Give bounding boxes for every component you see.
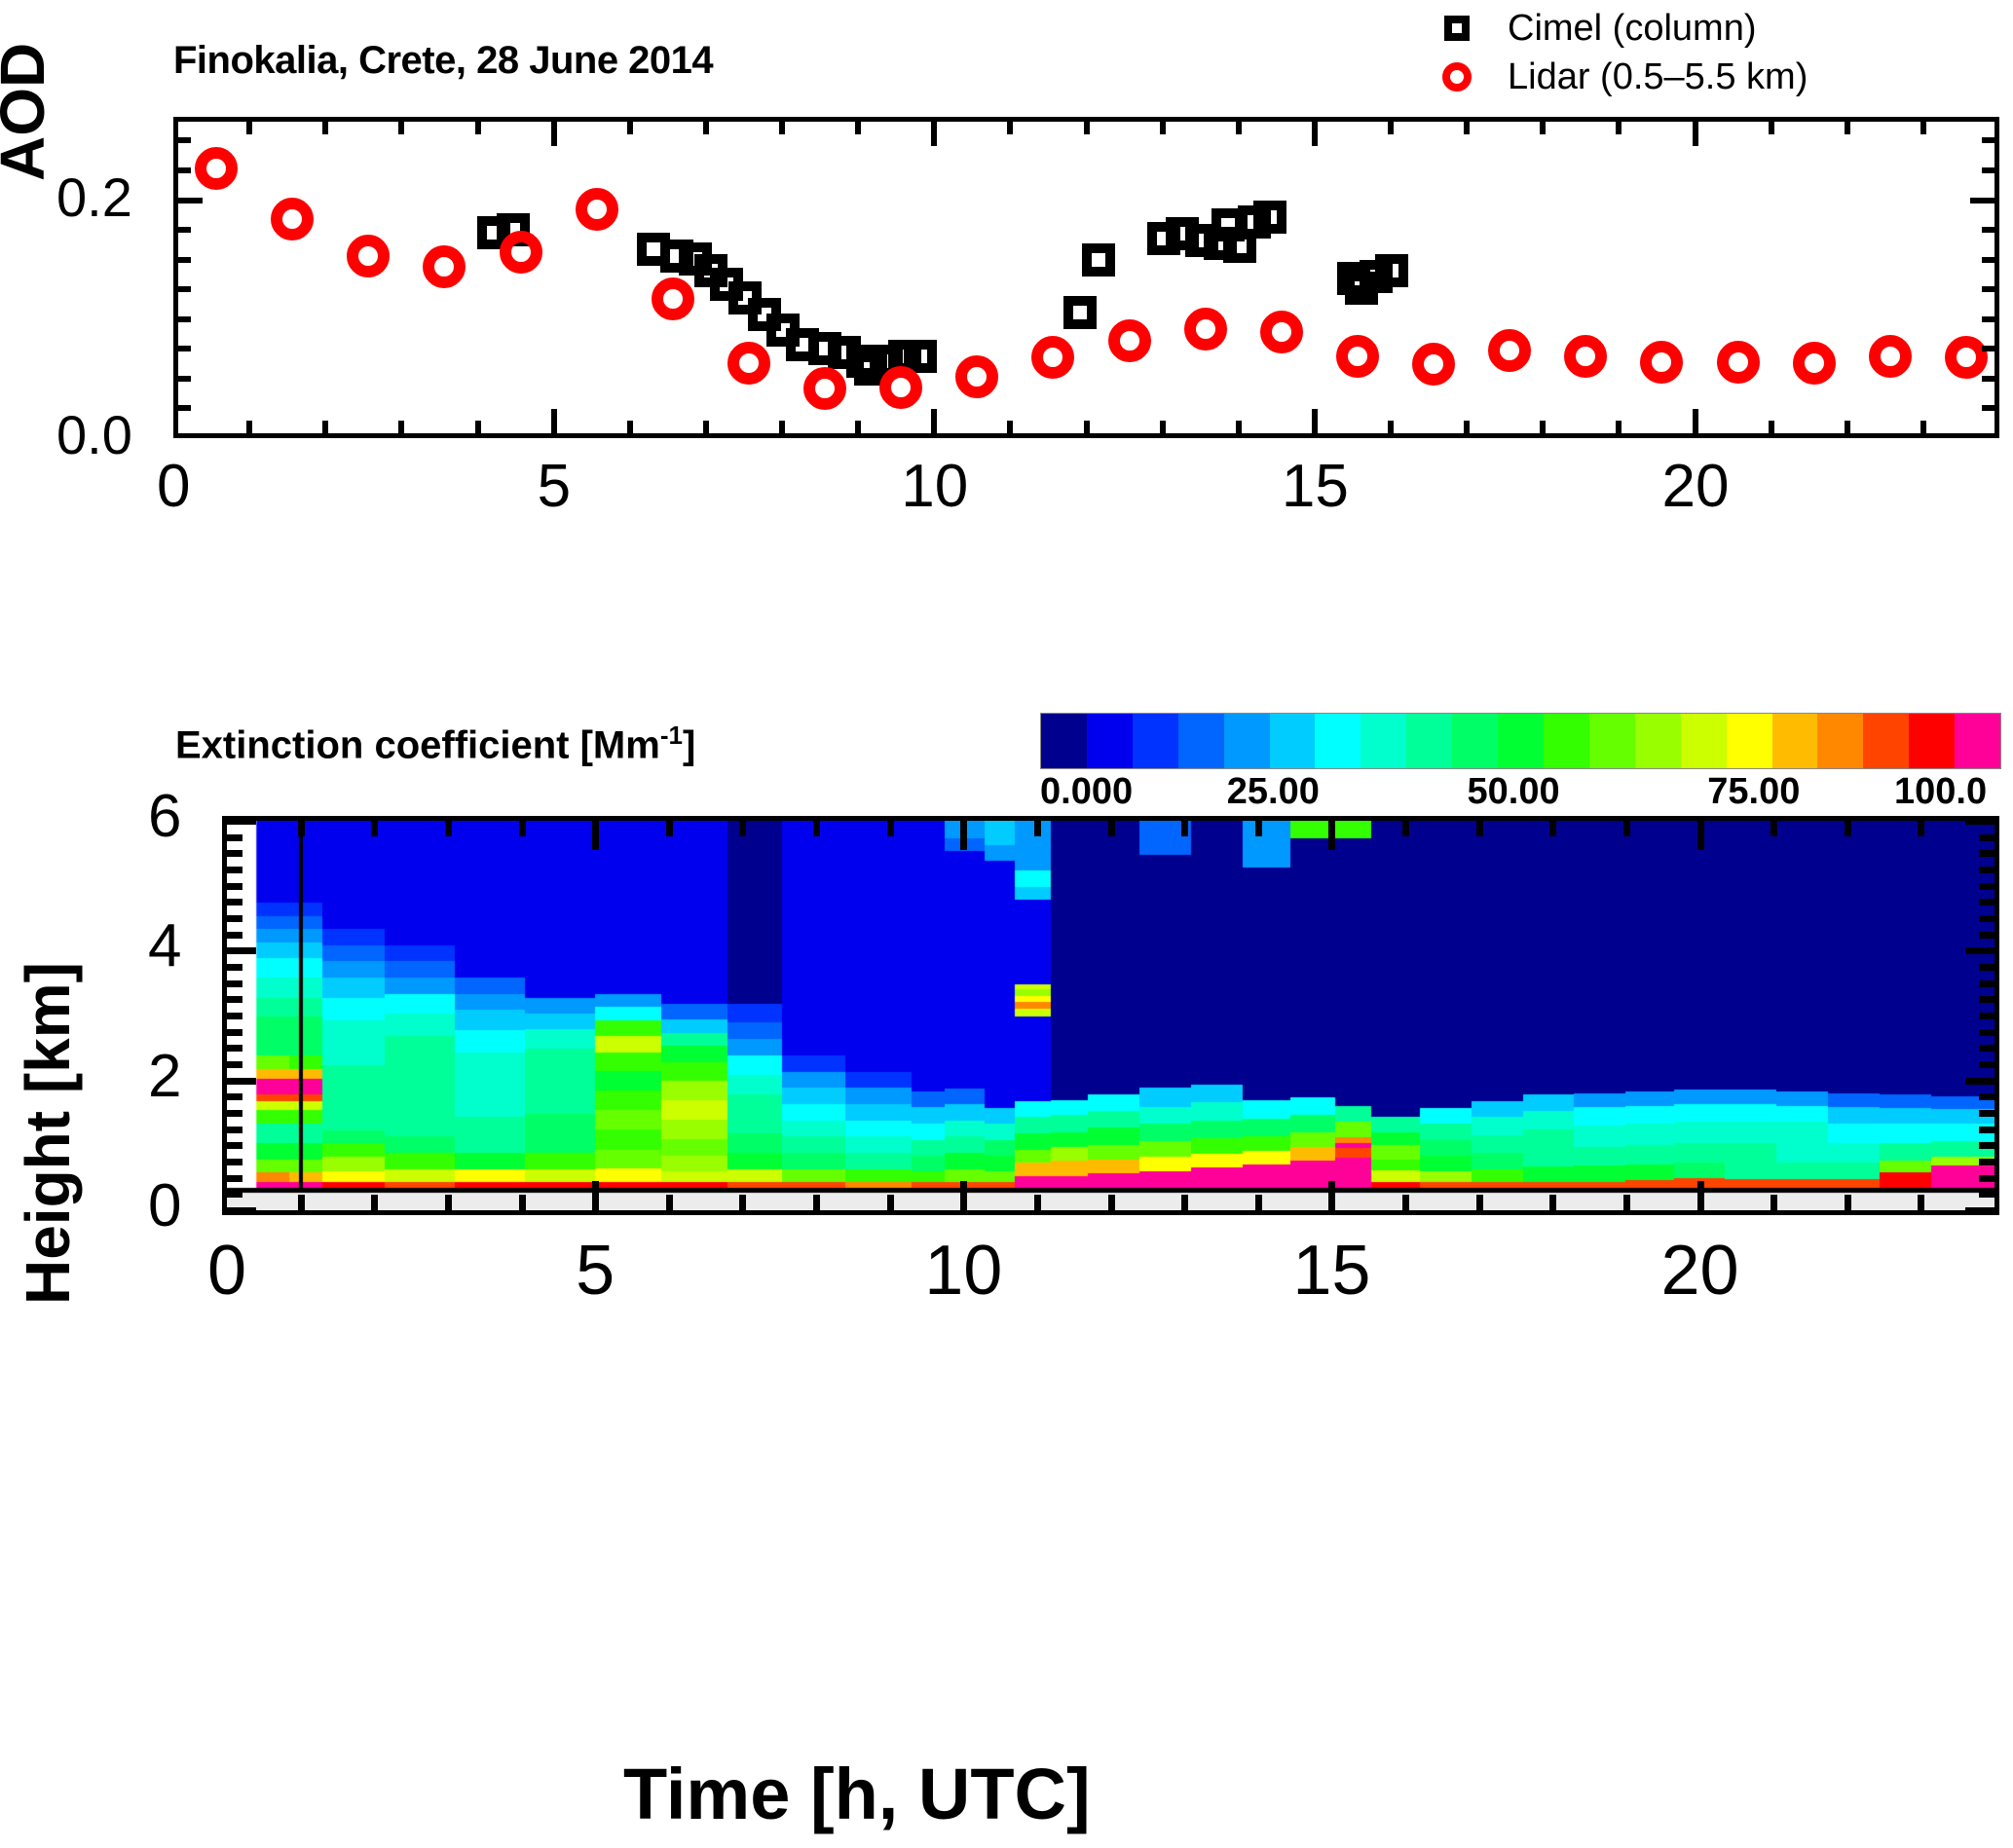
legend-item-cimel: Cimel (column): [1432, 4, 1808, 53]
heatmap-x-ticklabel: 15: [1292, 1231, 1370, 1311]
colorbar-band: [1681, 714, 1727, 768]
aod-point-lidar: [195, 147, 238, 190]
aod-plot-frame: [173, 117, 1999, 438]
heatmap-y-axis-label: Height [km]: [12, 962, 84, 1305]
aod-point-lidar: [727, 342, 770, 385]
aod-point-lidar: [879, 366, 922, 409]
colorbar-band: [1361, 714, 1406, 768]
colorbar-tick-label: 75.00: [1707, 771, 1800, 813]
colorbar-band: [1452, 714, 1498, 768]
figure-root: Finokalia, Crete, 28 June 2014 Cimel (co…: [0, 0, 2013, 1848]
aod-point-lidar: [1640, 341, 1683, 384]
page-title: Finokalia, Crete, 28 June 2014: [173, 39, 713, 83]
heatmap-plot-frame: [222, 816, 1999, 1215]
aod-x-ticklabel: 10: [901, 452, 968, 521]
colorbar: [1040, 713, 2001, 769]
aod-point-cimel: [1375, 254, 1408, 287]
aod-point-lidar: [271, 198, 314, 240]
colorbar-band: [1315, 714, 1361, 768]
legend-item-lidar: Lidar (0.5–5.5 km): [1432, 53, 1808, 101]
legend-label-cimel: Cimel (column): [1508, 8, 1756, 50]
aod-point-lidar: [500, 231, 542, 274]
open-square-icon: [1432, 16, 1482, 41]
aod-point-lidar: [955, 355, 998, 398]
aod-x-ticklabel: 5: [538, 452, 571, 521]
aod-point-lidar: [1564, 335, 1607, 378]
aod-point-lidar: [1260, 311, 1303, 353]
colorbar-band: [1955, 714, 2000, 768]
colorbar-band: [1178, 714, 1224, 768]
heatmap-y-ticklabel: 4: [148, 911, 181, 980]
aod-point-lidar: [803, 367, 846, 410]
heatmap-x-ticklabel: 5: [576, 1231, 615, 1311]
heatmap-y-ticklabel: 2: [148, 1042, 181, 1111]
colorbar-title: Extinction coefficient [Mm-1]: [175, 721, 695, 767]
aod-x-ticklabel: 20: [1662, 452, 1730, 521]
colorbar-band: [1909, 714, 1955, 768]
colorbar-band: [1635, 714, 1681, 768]
aod-point-lidar: [576, 188, 618, 231]
aod-y-ticklabel: 0.2: [56, 166, 132, 229]
heatmap-x-axis-label: Time [h, UTC]: [623, 1753, 1091, 1835]
aod-x-ticklabel: 15: [1282, 452, 1349, 521]
colorbar-title-bracket: ]: [683, 723, 695, 766]
heatmap-y-ticklabel: 6: [148, 782, 181, 851]
aod-plot-area: [178, 122, 1994, 433]
legend-label-lidar: Lidar (0.5–5.5 km): [1508, 56, 1808, 98]
aod-point-lidar: [652, 277, 694, 320]
aod-point-lidar: [1717, 341, 1760, 384]
colorbar-band: [1133, 714, 1178, 768]
colorbar-tick-labels: 0.00025.0050.0075.00100.0: [1032, 771, 2013, 816]
aod-point-lidar: [1184, 308, 1227, 351]
aod-point-lidar: [423, 245, 466, 288]
aod-y-axis-label: AOD: [0, 43, 58, 181]
aod-point-lidar: [1031, 336, 1074, 379]
colorbar-band: [1863, 714, 1909, 768]
aod-point-lidar: [347, 235, 390, 277]
colorbar-band: [1270, 714, 1316, 768]
aod-point-cimel: [1063, 296, 1097, 329]
heatmap-x-ticklabel: 20: [1661, 1231, 1739, 1311]
heatmap-y-ticklabel: 0: [148, 1171, 181, 1240]
colorbar-tick-label: 100.0: [1894, 771, 1987, 813]
colorbar-band: [1224, 714, 1270, 768]
aod-point-lidar: [1412, 343, 1455, 386]
colorbar-title-text: Extinction coefficient [Mm: [175, 723, 660, 766]
colorbar-tick-label: 50.00: [1468, 771, 1560, 813]
aod-point-lidar: [1488, 329, 1531, 372]
aod-point-cimel: [1253, 201, 1286, 234]
aod-point-lidar: [1869, 335, 1912, 378]
colorbar-band: [1772, 714, 1818, 768]
heatmap-x-ticklabel: 0: [207, 1231, 246, 1311]
heatmap-x-ticklabel: 10: [924, 1231, 1002, 1311]
colorbar-band: [1727, 714, 1772, 768]
colorbar-band: [1087, 714, 1133, 768]
aod-point-lidar: [1336, 335, 1379, 378]
colorbar-tick-label: 0.000: [1040, 771, 1133, 813]
colorbar-band: [1589, 714, 1635, 768]
colorbar-band: [1041, 714, 1087, 768]
aod-point-lidar: [1945, 336, 1988, 379]
aod-x-ticklabel: 0: [157, 452, 190, 521]
colorbar-band: [1817, 714, 1863, 768]
colorbar-band: [1544, 714, 1589, 768]
aod-point-cimel: [1082, 243, 1115, 277]
colorbar-tick-label: 25.00: [1227, 771, 1320, 813]
aod-point-lidar: [1793, 342, 1836, 385]
legend: Cimel (column) Lidar (0.5–5.5 km): [1432, 4, 1808, 101]
colorbar-title-exponent: -1: [660, 721, 683, 750]
aod-point-lidar: [1108, 319, 1151, 362]
colorbar-band: [1498, 714, 1544, 768]
heatmap-canvas: [227, 821, 1994, 1210]
aod-y-ticklabel: 0.0: [56, 403, 132, 466]
open-circle-icon: [1432, 62, 1482, 92]
colorbar-band: [1406, 714, 1452, 768]
